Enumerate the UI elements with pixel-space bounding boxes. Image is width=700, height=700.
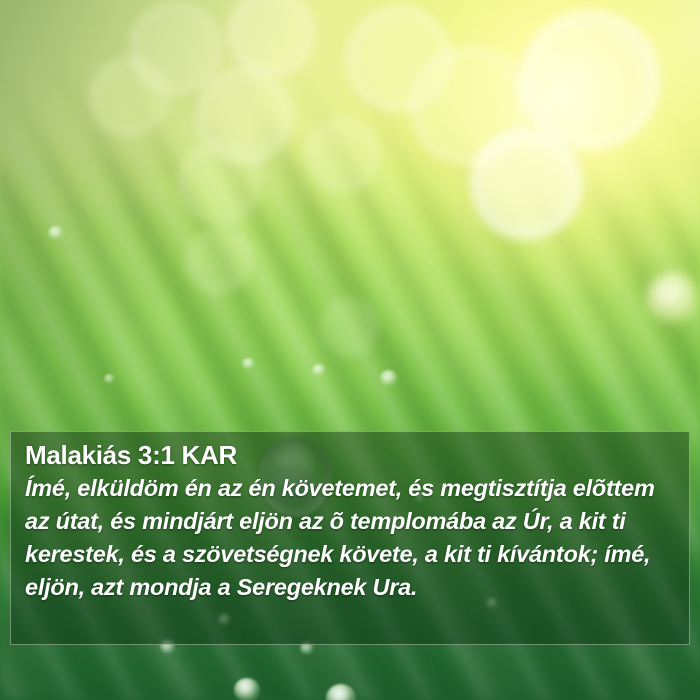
verse-overlay-panel: Malakiás 3:1 KAR Ímé, elküldöm én az én … bbox=[10, 431, 690, 645]
verse-image-canvas: Malakiás 3:1 KAR Ímé, elküldöm én az én … bbox=[0, 0, 700, 700]
verse-text: Ímé, elküldöm én az én követemet, és meg… bbox=[25, 472, 675, 604]
verse-reference: Malakiás 3:1 KAR bbox=[25, 440, 675, 470]
